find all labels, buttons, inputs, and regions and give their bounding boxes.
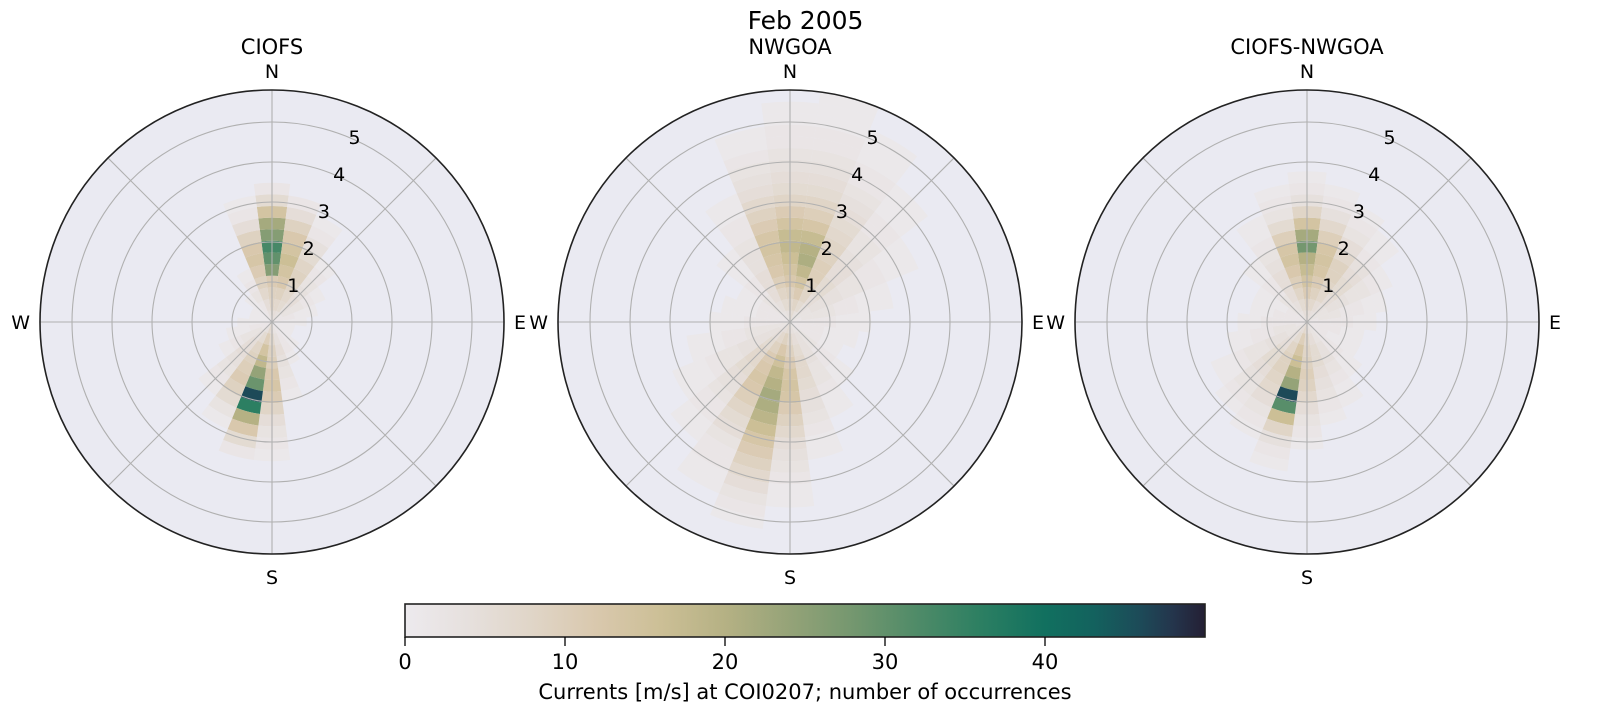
colorbar: 010203040Currents [m/s] at COI0207; numb… <box>398 604 1205 704</box>
colorbar-tick-label: 0 <box>398 650 411 674</box>
cardinal-west: W <box>529 312 548 334</box>
cardinal-east: E <box>1032 312 1044 334</box>
radial-tick-label: 5 <box>1383 127 1395 149</box>
polar-grid <box>40 90 504 554</box>
colorbar-tick-label: 30 <box>872 650 899 674</box>
radial-tick-label: 2 <box>821 238 833 260</box>
radial-tick-label: 2 <box>303 238 315 260</box>
cardinal-north: N <box>265 61 279 83</box>
colorbar-tick-label: 20 <box>712 650 739 674</box>
colorbar-tick-label: 10 <box>552 650 579 674</box>
cardinal-north: N <box>783 61 797 83</box>
radial-tick-label: 1 <box>1322 275 1334 297</box>
polar-rose-plots: NSEW12345NSEW12345NSEW12345 010203040Cur… <box>0 0 1611 724</box>
figure-canvas: Feb 2005 CIOFS NWGOA CIOFS-NWGOA NSEW123… <box>0 0 1611 724</box>
cardinal-west: W <box>1046 312 1065 334</box>
polar-panel-nwgoa: NSEW12345 <box>529 61 1044 589</box>
radial-tick-label: 3 <box>318 201 330 223</box>
radial-tick-label: 4 <box>1368 164 1380 186</box>
cardinal-west: W <box>11 312 30 334</box>
colorbar-layer: 010203040Currents [m/s] at COI0207; numb… <box>398 604 1205 704</box>
radial-tick-label: 1 <box>287 275 299 297</box>
polar-grid <box>1075 90 1539 554</box>
polar-panel-ciofs-nwgoa: NSEW12345 <box>1046 61 1561 589</box>
radial-tick-label: 1 <box>805 275 817 297</box>
colorbar-axis-label: Currents [m/s] at COI0207; number of occ… <box>538 680 1071 704</box>
cardinal-north: N <box>1300 61 1314 83</box>
radial-tick-label: 5 <box>866 127 878 149</box>
cardinal-east: E <box>514 312 526 334</box>
cardinal-south: S <box>266 567 278 589</box>
panels-layer: NSEW12345NSEW12345NSEW12345 <box>11 61 1561 589</box>
radial-tick-label: 3 <box>836 201 848 223</box>
polar-panel-ciofs: NSEW12345 <box>11 61 526 589</box>
colorbar-gradient <box>405 604 1205 637</box>
cardinal-east: E <box>1549 312 1561 334</box>
radial-tick-label: 5 <box>348 127 360 149</box>
cardinal-south: S <box>784 567 796 589</box>
radial-tick-label: 3 <box>1353 201 1365 223</box>
colorbar-tick-label: 40 <box>1032 650 1059 674</box>
radial-tick-label: 4 <box>851 164 863 186</box>
polar-grid <box>558 90 1022 554</box>
radial-tick-label: 2 <box>1338 238 1350 260</box>
radial-tick-label: 4 <box>333 164 345 186</box>
cardinal-south: S <box>1301 567 1313 589</box>
